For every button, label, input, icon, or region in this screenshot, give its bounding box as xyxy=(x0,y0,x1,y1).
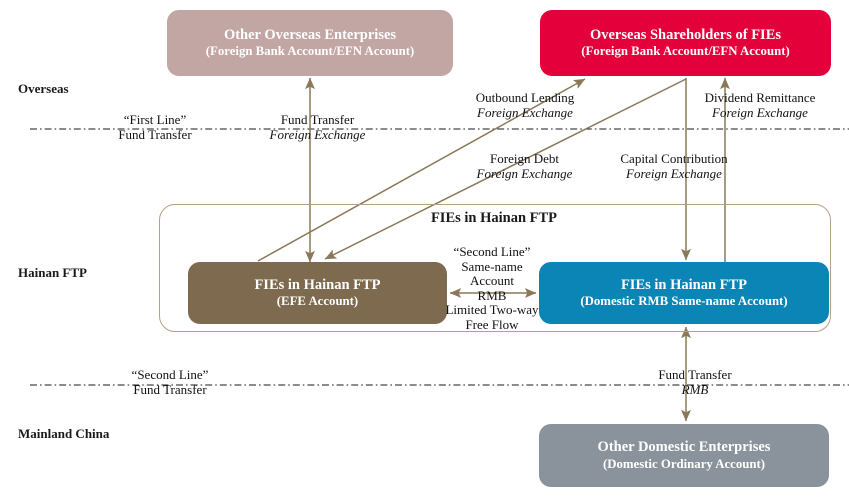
node-fies-in-hainan-ftp-rmb-account[interactable]: FIEs in Hainan FTP (Domestic RMB Same-na… xyxy=(539,262,829,324)
edge-label-foreign-debt: Foreign Debt Foreign Exchange xyxy=(457,152,592,181)
node-subtitle: (Domestic RMB Same-name Account) xyxy=(580,294,787,309)
edge-label-line2: RMB xyxy=(625,383,765,398)
edge-label-fund-transfer-rmb: Fund Transfer RMB xyxy=(625,368,765,397)
region-label-hainan-ftp: Hainan FTP xyxy=(18,265,87,281)
edge-label-second-line-fund-transfer: “Second Line” Fund Transfer xyxy=(90,368,250,397)
node-subtitle: (Foreign Bank Account/EFN Account) xyxy=(206,44,414,59)
edge-label-line2: Fund Transfer xyxy=(75,128,235,143)
node-fies-in-hainan-ftp-efe-account[interactable]: FIEs in Hainan FTP (EFE Account) xyxy=(188,262,447,324)
edge-label-line1: “Second Line” xyxy=(90,368,250,383)
edge-label-line1: Fund Transfer xyxy=(625,368,765,383)
edge-label-line3: Account xyxy=(437,274,547,289)
edge-label-line1: “Second Line” xyxy=(437,245,547,260)
region-label-mainland-china: Mainland China xyxy=(18,426,109,442)
edge-label-outbound-lending: Outbound Lending Foreign Exchange xyxy=(455,91,595,120)
edge-label-fund-transfer-foreign-exchange: Fund Transfer Foreign Exchange xyxy=(250,113,385,142)
edge-label-line2: Same-name xyxy=(437,260,547,275)
node-title: Overseas Shareholders of FIEs xyxy=(590,27,781,44)
edge-label-line6: Free Flow xyxy=(437,318,547,333)
region-label-overseas: Overseas xyxy=(18,81,69,97)
node-other-domestic-enterprises[interactable]: Other Domestic Enterprises (Domestic Ord… xyxy=(539,424,829,487)
node-subtitle: (Domestic Ordinary Account) xyxy=(603,457,765,472)
edge-label-dividend-remittance: Dividend Remittance Foreign Exchange xyxy=(690,91,830,120)
node-subtitle: (EFE Account) xyxy=(277,294,358,309)
edge-label-line2: Fund Transfer xyxy=(90,383,250,398)
edge-label-line1: Fund Transfer xyxy=(250,113,385,128)
node-subtitle: (Foreign Bank Account/EFN Account) xyxy=(581,44,789,59)
edge-label-line1: Capital Contribution xyxy=(600,152,748,167)
edge-label-line2: Foreign Exchange xyxy=(250,128,385,143)
edge-label-line2: Foreign Exchange xyxy=(455,106,595,121)
diagram-canvas: FIEs in Hainan FTP Overseas Hainan FTP M… xyxy=(0,0,849,499)
edge-label-line1: Dividend Remittance xyxy=(690,91,830,106)
edge-label-first-line: “First Line” Fund Transfer xyxy=(75,113,235,142)
edge-label-second-line-same-name-account: “Second Line” Same-name Account RMB Limi… xyxy=(437,245,547,332)
edge-label-line4: RMB xyxy=(437,289,547,304)
edge-label-capital-contribution: Capital Contribution Foreign Exchange xyxy=(600,152,748,181)
edge-label-line2: Foreign Exchange xyxy=(457,167,592,182)
node-other-overseas-enterprises[interactable]: Other Overseas Enterprises (Foreign Bank… xyxy=(167,10,453,76)
edge-label-line2: Foreign Exchange xyxy=(690,106,830,121)
hainan-ftp-container-title: FIEs in Hainan FTP xyxy=(159,210,829,227)
node-title: FIEs in Hainan FTP xyxy=(621,277,747,294)
edge-label-line5: Limited Two-way xyxy=(437,303,547,318)
edge-label-line1: “First Line” xyxy=(75,113,235,128)
node-title: Other Domestic Enterprises xyxy=(598,439,771,456)
edge-label-line1: Foreign Debt xyxy=(457,152,592,167)
edge-label-line2: Foreign Exchange xyxy=(600,167,748,182)
node-title: Other Overseas Enterprises xyxy=(224,27,396,44)
node-overseas-shareholders-of-fies[interactable]: Overseas Shareholders of FIEs (Foreign B… xyxy=(540,10,831,76)
node-title: FIEs in Hainan FTP xyxy=(254,277,380,294)
edge-label-line1: Outbound Lending xyxy=(455,91,595,106)
